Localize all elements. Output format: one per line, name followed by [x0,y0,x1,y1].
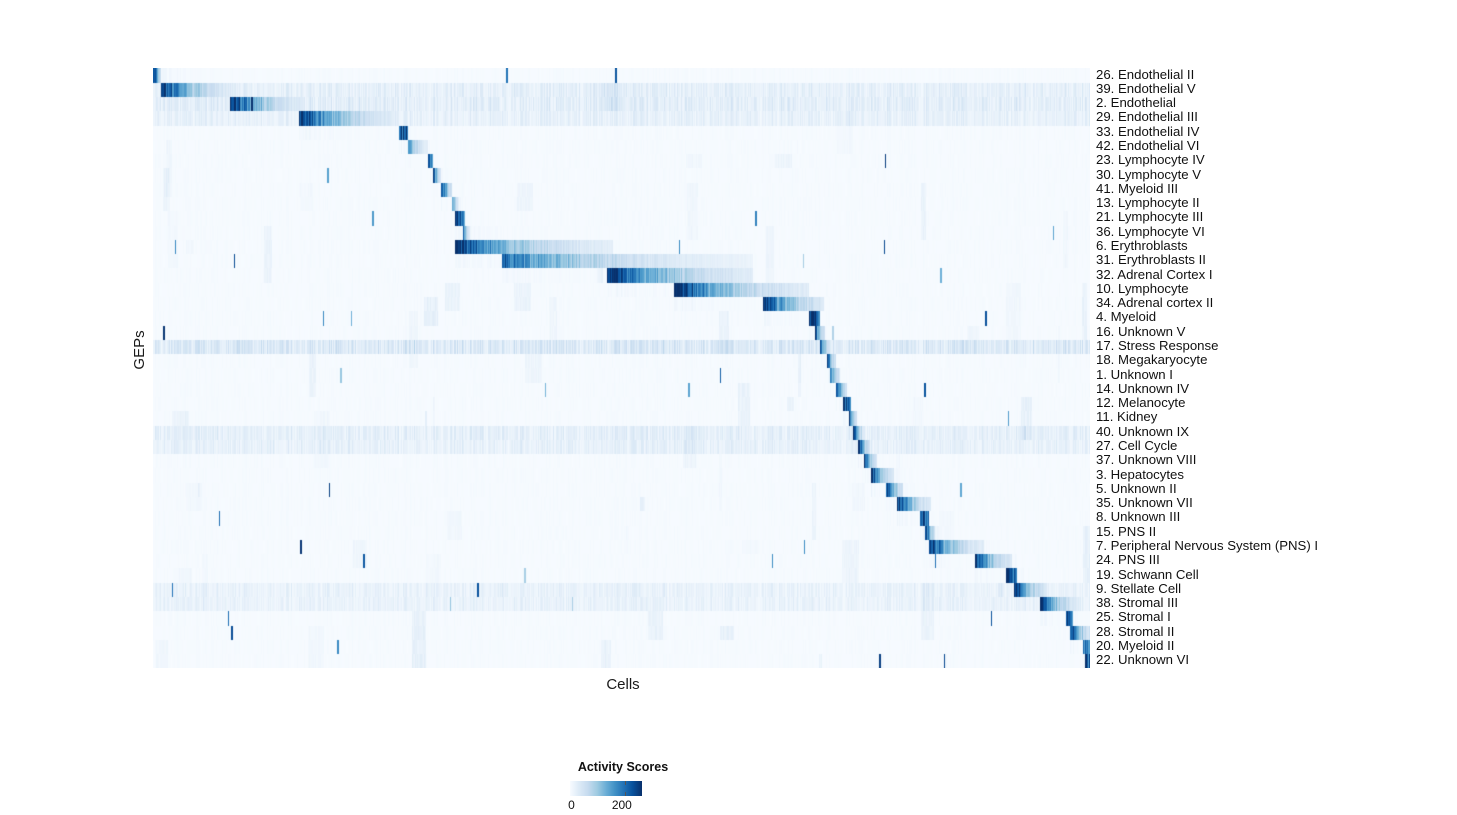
colorbar-tick-labels: 0200 [508,798,738,812]
gep-row-label: 38. Stromal III [1096,596,1178,610]
gep-row-label: 28. Stromal II [1096,625,1174,639]
gep-row-label: 30. Lymphocyte V [1096,168,1201,182]
gep-row-label: 32. Adrenal Cortex I [1096,268,1213,282]
heatmap-plot-area [153,68,1090,668]
gep-row-label: 19. Schwann Cell [1096,568,1199,582]
gep-row-label: 31. Erythroblasts II [1096,253,1206,267]
gep-row-label: 13. Lymphocyte II [1096,196,1200,210]
gep-row-label: 33. Endothelial IV [1096,125,1199,139]
gep-row-label: 14. Unknown IV [1096,382,1189,396]
gep-row-label: 4. Myeloid [1096,310,1156,324]
gep-row-label: 26. Endothelial II [1096,68,1194,82]
heatmap-canvas [153,68,1090,668]
gep-row-label: 27. Cell Cycle [1096,439,1177,453]
colorbar-gradient [570,781,642,796]
gep-row-label: 3. Hepatocytes [1096,468,1184,482]
y-axis-label-text: GEPs [128,320,152,380]
gep-row-label: 23. Lymphocyte IV [1096,153,1205,167]
gep-row-label: 35. Unknown VII [1096,496,1193,510]
gep-row-label: 10. Lymphocyte [1096,282,1189,296]
gep-row-label: 17. Stress Response [1096,339,1218,353]
colorbar-tick-mark [625,781,627,785]
heatmap-figure: GEPs Cells 26. Endothelial II39. Endothe… [0,0,1457,815]
x-axis-label: Cells [403,676,843,693]
gep-row-label: 37. Unknown VIII [1096,453,1196,467]
gep-row-label: 5. Unknown II [1096,482,1177,496]
gep-row-label: 21. Lymphocyte III [1096,210,1203,224]
gep-row-label: 20. Myeloid II [1096,639,1174,653]
gep-row-label: 34. Adrenal cortex II [1096,296,1213,310]
gep-row-label: 18. Megakaryocyte [1096,353,1207,367]
gep-row-label: 7. Peripheral Nervous System (PNS) I [1096,539,1318,553]
gep-row-label: 15. PNS II [1096,525,1156,539]
gep-row-label: 1. Unknown I [1096,368,1173,382]
colorbar-legend: Activity Scores 0200 [508,760,738,812]
gep-row-label: 6. Erythroblasts [1096,239,1188,253]
gep-row-label: 42. Endothelial VI [1096,139,1199,153]
gep-row-label: 12. Melanocyte [1096,396,1185,410]
gep-row-label: 25. Stromal I [1096,610,1171,624]
gep-row-label: 40. Unknown IX [1096,425,1189,439]
gep-row-label: 16. Unknown V [1096,325,1185,339]
gep-row-label: 41. Myeloid III [1096,182,1178,196]
colorbar-tick-mark [625,792,627,796]
gep-row-label: 11. Kidney [1096,410,1157,424]
gep-row-label: 9. Stellate Cell [1096,582,1181,596]
gep-row-labels: 26. Endothelial II39. Endothelial V2. En… [1096,68,1446,668]
gep-row-label: 24. PNS III [1096,553,1160,567]
colorbar-tick-label: 0 [568,798,575,812]
legend-title: Activity Scores [508,760,738,774]
gep-row-label: 39. Endothelial V [1096,82,1196,96]
colorbar-tick-label: 200 [612,798,632,812]
gep-row-label: 29. Endothelial III [1096,110,1198,124]
gep-row-label: 36. Lymphocyte VI [1096,225,1205,239]
gep-row-label: 22. Unknown VI [1096,653,1189,667]
gep-row-label: 2. Endothelial [1096,96,1176,110]
gep-row-label: 8. Unknown III [1096,510,1180,524]
